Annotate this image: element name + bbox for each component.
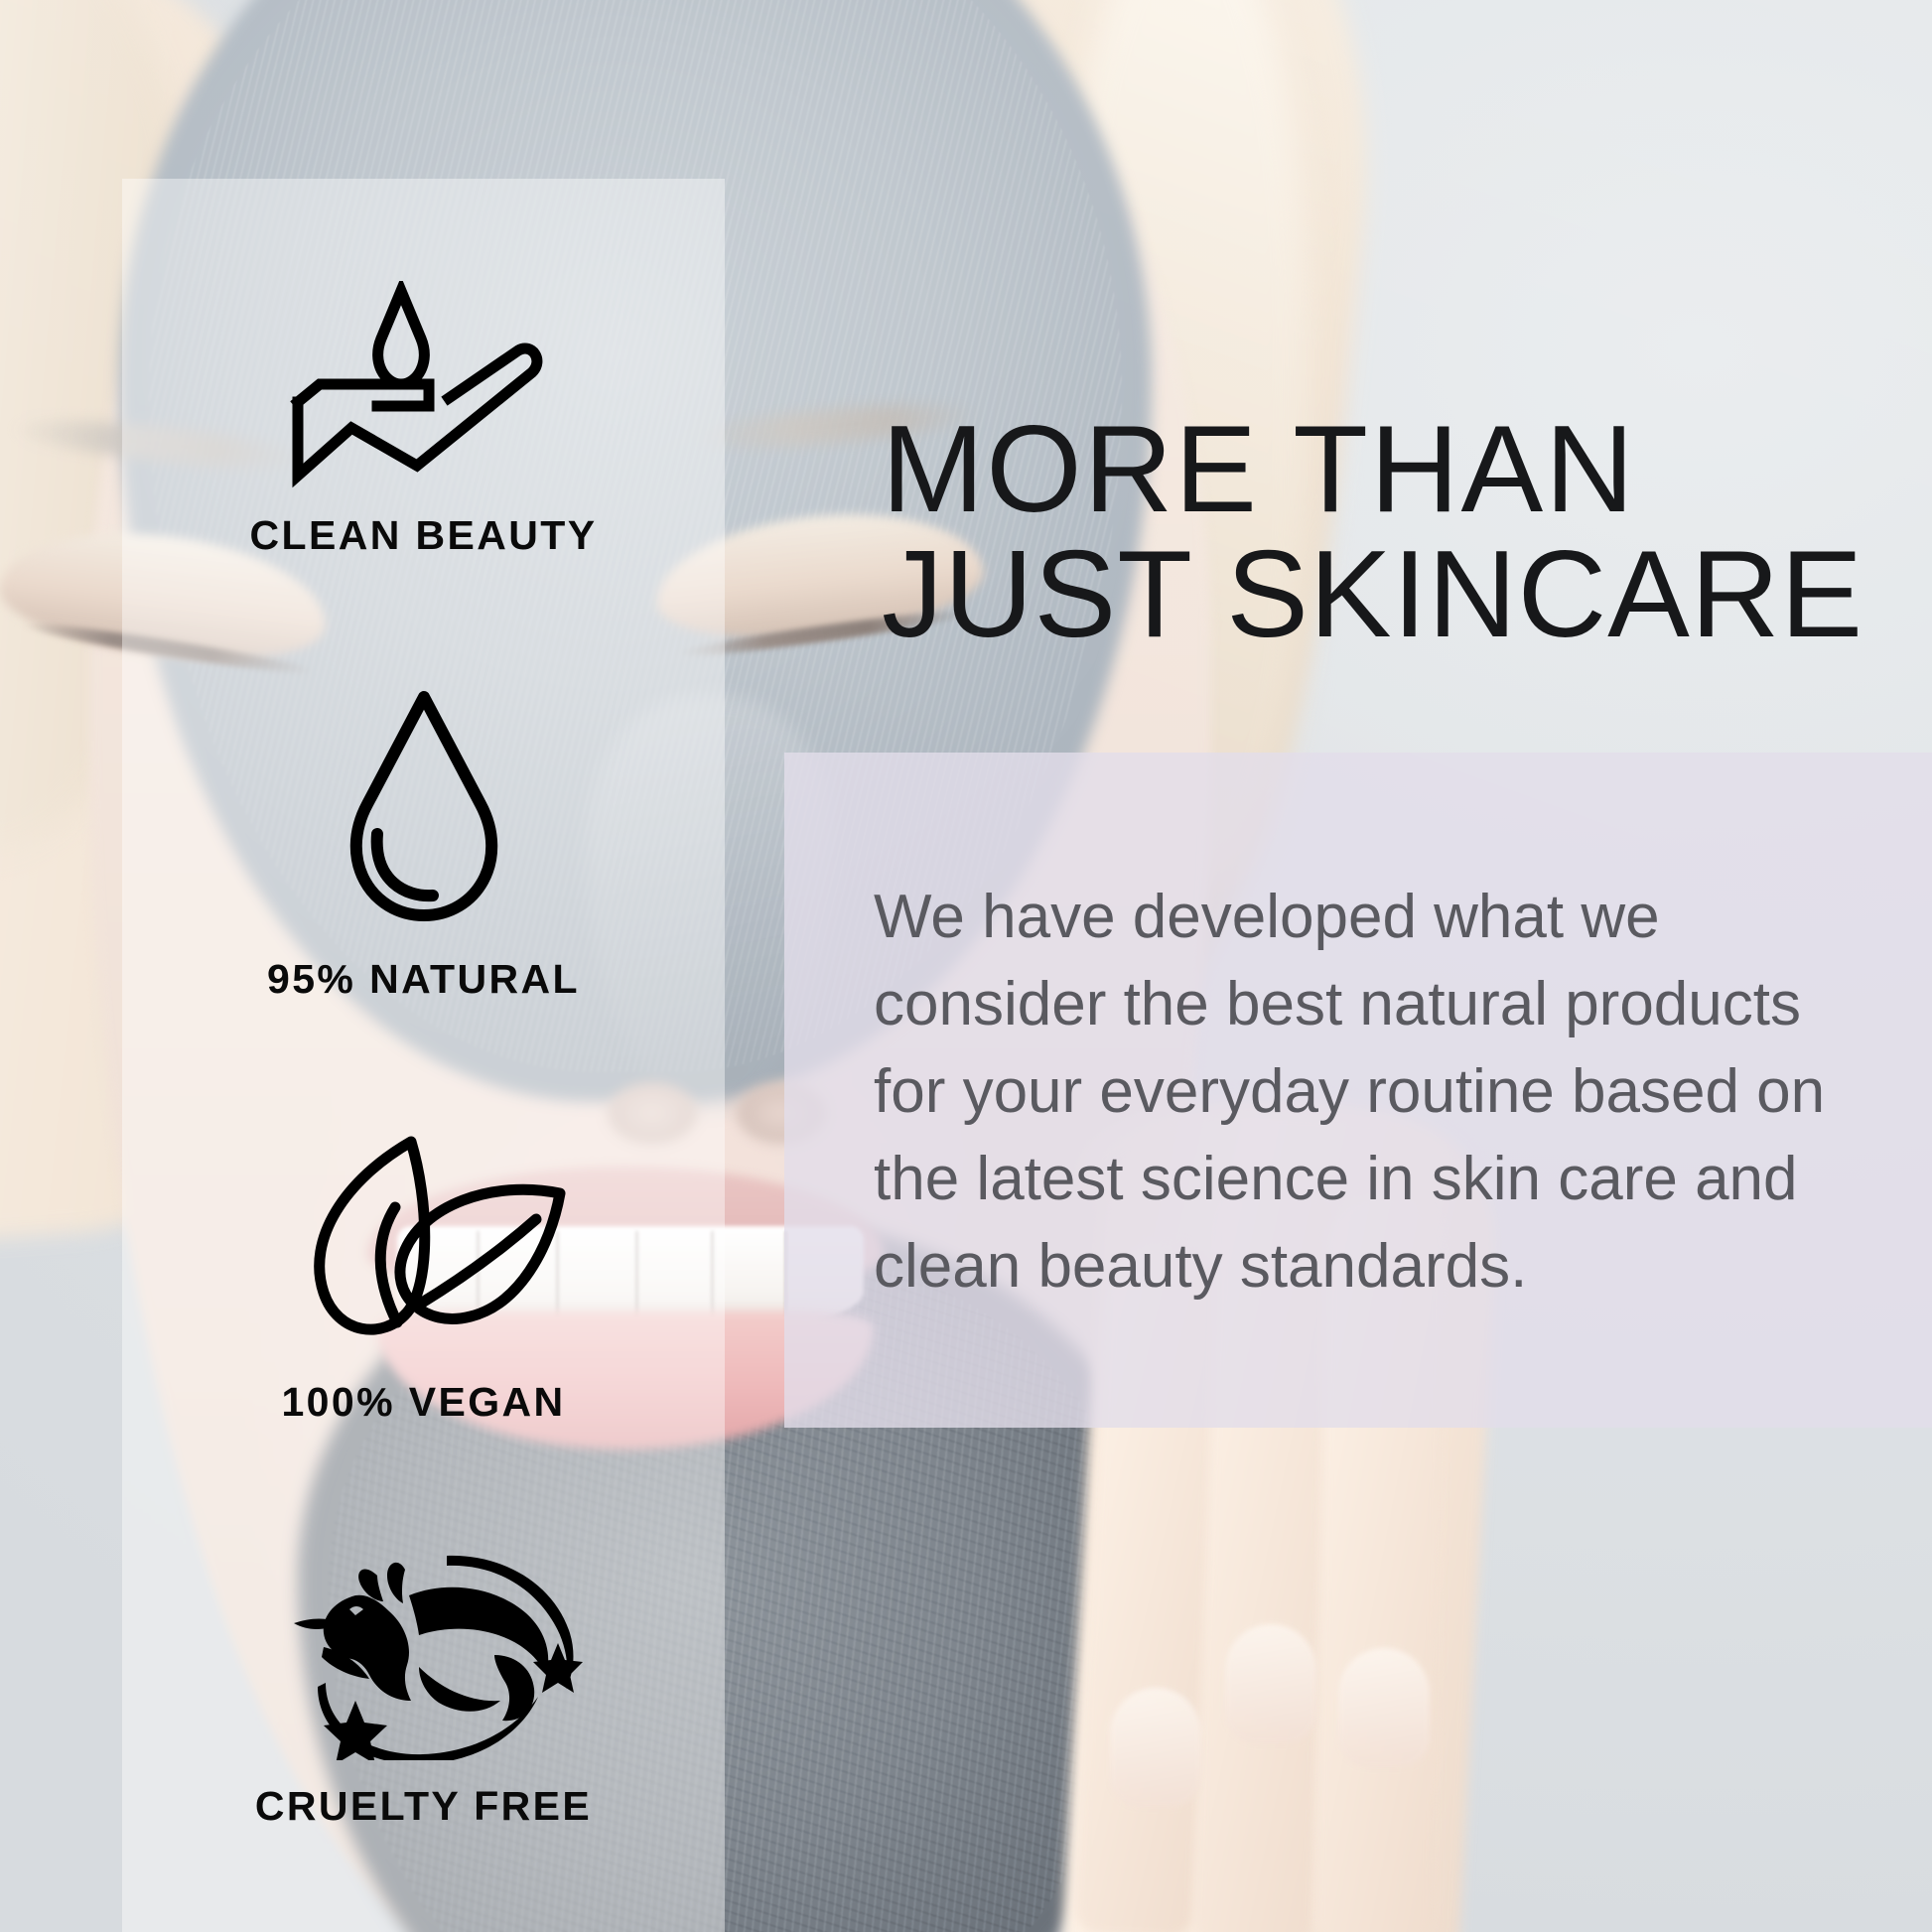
badge-vegan: 100% VEGAN	[122, 1128, 725, 1426]
fingernail	[1110, 1688, 1201, 1807]
hand-with-droplet-icon	[290, 281, 558, 494]
badge-clean-beauty: CLEAN BEAUTY	[122, 281, 725, 559]
promo-graphic: CLEAN BEAUTY 95% NATURAL	[0, 0, 1932, 1932]
headline: MORE THAN JUST SKINCARE	[882, 407, 1932, 658]
fingernail	[1225, 1624, 1316, 1743]
body-paragraph: We have developed what we consider the b…	[874, 874, 1876, 1311]
badge-column: CLEAN BEAUTY 95% NATURAL	[122, 179, 725, 1932]
badge-cruelty-free: CRUELTY FREE	[122, 1552, 725, 1830]
badge-label: CLEAN BEAUTY	[250, 512, 598, 559]
leaping-bunny-icon	[260, 1552, 588, 1765]
badge-label: 100% VEGAN	[281, 1379, 565, 1426]
two-leaves-icon	[280, 1128, 568, 1361]
badge-natural: 95% NATURAL	[122, 685, 725, 1003]
headline-line-2: JUST SKINCARE	[882, 532, 1932, 657]
water-droplet-icon	[310, 685, 538, 938]
fingernail	[1338, 1648, 1430, 1767]
badge-label: 95% NATURAL	[267, 956, 580, 1003]
headline-line-1: MORE THAN	[882, 407, 1932, 532]
badge-label: CRUELTY FREE	[255, 1783, 592, 1830]
